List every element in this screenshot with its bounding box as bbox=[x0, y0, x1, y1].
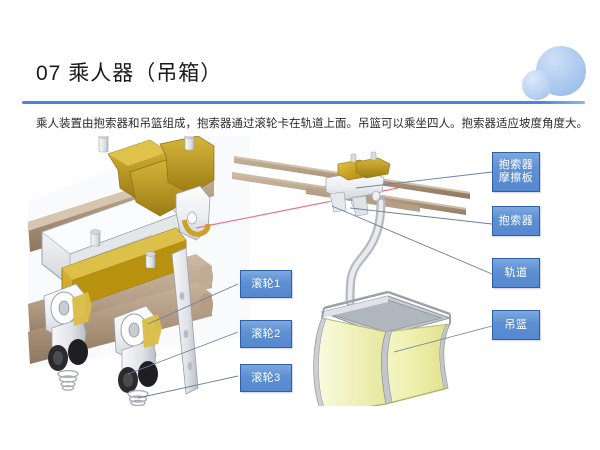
callout-gondola[interactable]: 吊篮 bbox=[492, 310, 540, 340]
callout-grip-friction-plate-label-line2: 摩擦板 bbox=[499, 172, 534, 185]
callout-grip-friction-plate-label-line1: 抱索器 bbox=[499, 159, 534, 172]
callout-rail[interactable]: 轨道 bbox=[492, 258, 540, 288]
callout-roller-1-label: 滚轮1 bbox=[251, 278, 281, 291]
slide-root: 07 乘人器（吊箱） 乘人装置由抱索器和吊篮组成，抱索器通过滚轮卡在轨道上面。吊… bbox=[0, 0, 600, 450]
body-paragraph: 乘人装置由抱索器和吊篮组成，抱索器通过滚轮卡在轨道上面。吊篮可以乘坐四人。抱索器… bbox=[36, 116, 566, 132]
callout-roller-2-label: 滚轮2 bbox=[251, 328, 281, 341]
callout-grip[interactable]: 抱索器 bbox=[492, 206, 540, 236]
callout-roller-2[interactable]: 滚轮2 bbox=[240, 320, 292, 348]
callout-grip-friction-plate[interactable]: 抱索器 摩擦板 bbox=[492, 152, 540, 192]
callout-gondola-label: 吊篮 bbox=[505, 319, 528, 332]
callout-roller-1[interactable]: 滚轮1 bbox=[240, 270, 292, 298]
blue-circle-small-icon bbox=[522, 70, 552, 100]
detail-view-gripper bbox=[28, 136, 250, 406]
callout-roller-3[interactable]: 滚轮3 bbox=[240, 364, 292, 392]
title-divider bbox=[22, 101, 585, 104]
page-title: 07 乘人器（吊箱） bbox=[36, 57, 222, 87]
callout-grip-label: 抱索器 bbox=[499, 215, 534, 228]
callout-rail-label: 轨道 bbox=[505, 267, 528, 280]
callout-roller-3-label: 滚轮3 bbox=[251, 372, 281, 385]
